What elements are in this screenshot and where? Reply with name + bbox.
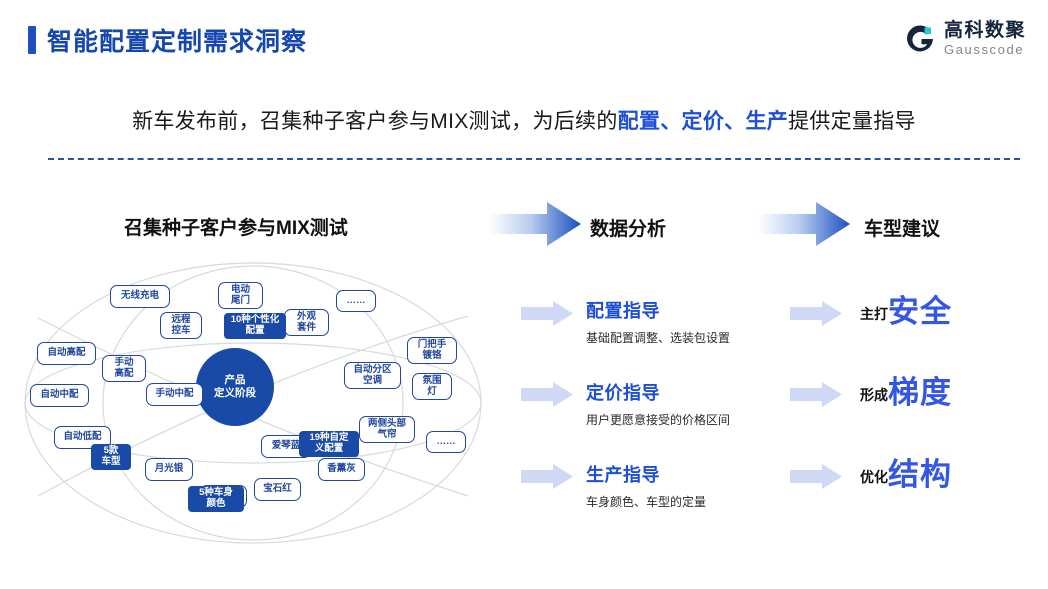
- analysis-title-2: 定价指导: [586, 379, 730, 405]
- analysis-item-1: 配置指导 基础配置调整、选装包设置: [586, 297, 730, 346]
- diagram-node-15: ……: [426, 431, 466, 453]
- row-arrow-icon-2: [521, 381, 573, 408]
- logo-wordmark: 高科数聚 Gausscode: [944, 21, 1026, 56]
- diagram-node-17: 月光银: [145, 458, 193, 481]
- row-arrow-icon-5: [790, 381, 842, 408]
- logo-cn-label: 高科数聚: [944, 21, 1026, 40]
- column-heading-analysis: 数据分析: [590, 214, 666, 241]
- analysis-item-2: 定价指导 用户更愿意接受的价格区间: [586, 379, 730, 428]
- analysis-desc-1: 基础配置调整、选装包设置: [586, 329, 730, 346]
- diagram-category-badge-1: 10种个性化 配置: [224, 313, 286, 339]
- analysis-item-3: 生产指导 车身颜色、车型的定量: [586, 461, 706, 510]
- diagram-node-13: 两侧头部 气帘: [359, 416, 415, 443]
- diagram-node-18: 香薰灰: [318, 458, 365, 481]
- flow-arrow-icon-2: [758, 200, 850, 248]
- title-accent-bar: [28, 26, 36, 54]
- analysis-title-1: 配置指导: [586, 297, 730, 323]
- suggestion-prefix-1: 主打: [860, 304, 888, 327]
- row-arrow-icon-4: [790, 300, 842, 327]
- diagram-node-4: 远程 控车: [160, 312, 202, 339]
- diagram-node-1: 无线充电: [110, 285, 170, 308]
- subtitle-pre: 新车发布前，召集种子客户参与MIX测试，为后续的: [132, 110, 618, 133]
- suggestion-item-2: 形成 梯度: [860, 377, 952, 408]
- suggestion-item-3: 优化 结构: [860, 459, 952, 490]
- section-divider: [48, 158, 1020, 160]
- analysis-desc-2: 用户更愿意接受的价格区间: [586, 411, 730, 428]
- diagram-core-node: 产品 定义阶段: [196, 348, 274, 426]
- title-label: 智能配置定制需求洞察: [47, 22, 307, 58]
- slide: 智能配置定制需求洞察 高科数聚 Gausscode 新车发布前，召集种子客户参与…: [0, 0, 1048, 589]
- flow-arrow-icon-1: [489, 200, 581, 248]
- suggestion-item-1: 主打 安全: [860, 296, 952, 327]
- analysis-desc-3: 车身颜色、车型的定量: [586, 493, 706, 510]
- subtitle-post: 提供定量指导: [788, 110, 916, 133]
- diagram-node-11: 自动中配: [30, 384, 89, 407]
- logo-en-label: Gausscode: [944, 43, 1026, 56]
- page-title: 智能配置定制需求洞察: [28, 22, 307, 58]
- diagram-node-12: 手动中配: [146, 383, 203, 406]
- diagram-node-6: 门把手 镀铬: [407, 337, 457, 364]
- row-arrow-icon-3: [521, 463, 573, 490]
- suggestion-word-3: 结构: [888, 459, 952, 490]
- diagram-node-19: 宝石红: [254, 478, 301, 501]
- column-heading-collect: 召集种子客户参与MIX测试: [124, 213, 348, 240]
- configuration-sphere-diagram: 产品 定义阶段 无线充电电动 尾门……远程 控车外观 套件门把手 镀铬自动高配手…: [18, 258, 488, 548]
- row-arrow-icon-1: [521, 300, 573, 327]
- subtitle-highlight: 配置、定价、生产: [618, 110, 788, 133]
- diagram-node-9: 自动分区 空调: [344, 362, 401, 389]
- gausscode-g-logo-icon: [903, 22, 937, 56]
- suggestion-prefix-3: 优化: [860, 467, 888, 490]
- diagram-node-10: 氛围 灯: [412, 373, 452, 400]
- diagram-node-7: 自动高配: [37, 342, 96, 365]
- brand-logo: 高科数聚 Gausscode: [903, 21, 1026, 56]
- diagram-node-5: 外观 套件: [284, 309, 329, 336]
- row-arrow-icon-6: [790, 463, 842, 490]
- diagram-node-2: 电动 尾门: [218, 282, 263, 309]
- subtitle: 新车发布前，召集种子客户参与MIX测试，为后续的配置、定价、生产提供定量指导: [0, 105, 1048, 135]
- suggestion-word-2: 梯度: [888, 377, 952, 408]
- suggestion-prefix-2: 形成: [860, 385, 888, 408]
- suggestion-word-1: 安全: [888, 296, 952, 327]
- analysis-title-3: 生产指导: [586, 461, 706, 487]
- column-heading-suggestion: 车型建议: [864, 214, 940, 241]
- diagram-category-badge-4: 5种车身 颜色: [188, 486, 244, 512]
- diagram-category-badge-3: 19种自定 义配置: [299, 431, 359, 457]
- diagram-category-badge-2: 5款 车型: [91, 444, 131, 470]
- diagram-node-3: ……: [336, 290, 376, 312]
- diagram-node-8: 手动 高配: [102, 355, 146, 382]
